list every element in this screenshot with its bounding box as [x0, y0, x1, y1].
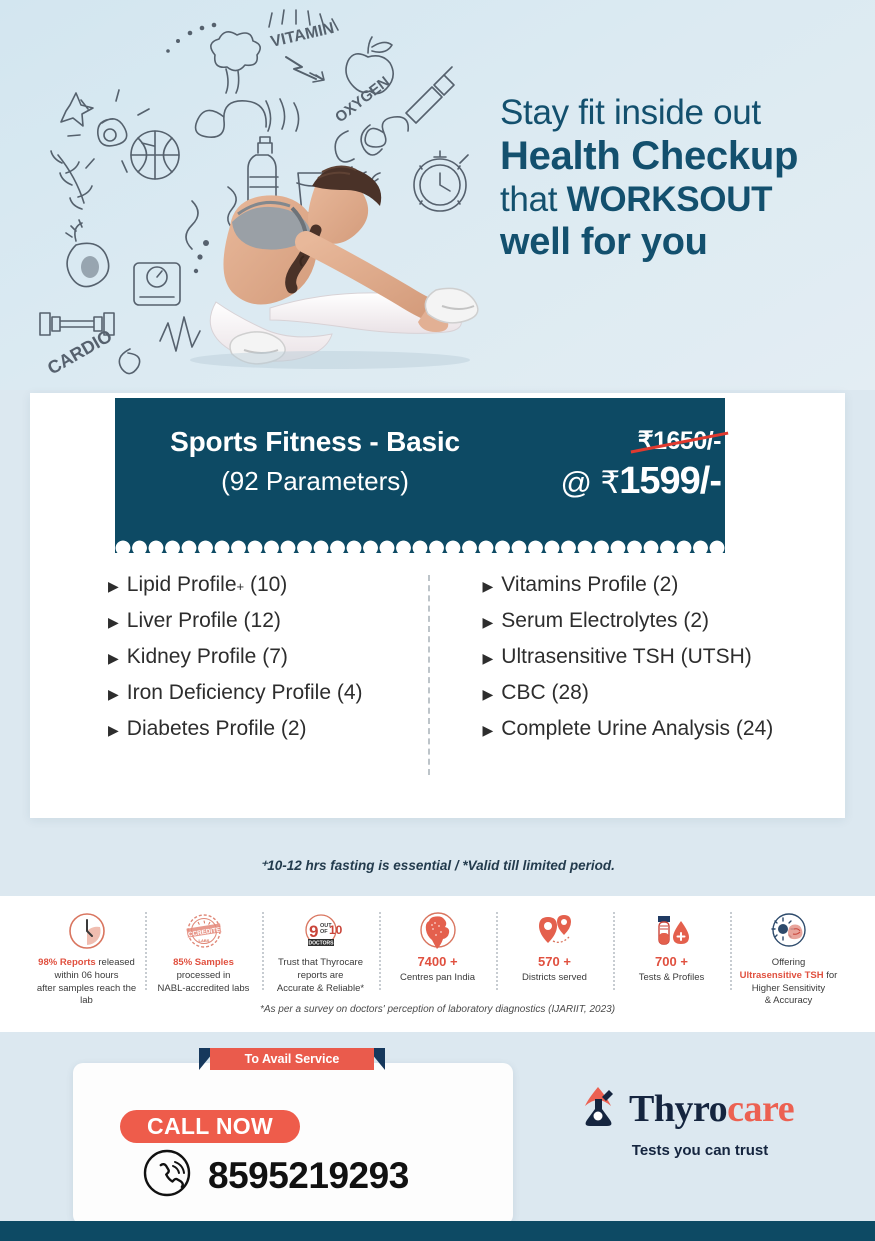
list-item: ▶ Vitamins Profile (2): [483, 573, 846, 597]
headline-line-3: that WORKSOUT: [500, 182, 860, 217]
column-divider: [428, 575, 430, 775]
test-count: (24): [736, 717, 773, 741]
hero-section: VITAMIN OXYGEN: [0, 0, 875, 390]
trust-badge-text: Districts served: [501, 972, 608, 985]
trust-badge-text: Centres pan India: [384, 972, 491, 985]
trust-badge: ACCREDITED LABS 85% Samples processed in…: [145, 908, 262, 995]
trust-badge-line2: Higher Sensitivity: [752, 983, 825, 994]
bullet-arrow-icon: ▶: [108, 579, 119, 593]
test-superscript: +: [237, 579, 245, 594]
trust-badge-text: 98% Reports released within 06 hours aft…: [33, 957, 140, 1008]
survey-note: *As per a survey on doctors' perception …: [0, 1004, 875, 1015]
test-name: Liver Profile: [127, 609, 238, 633]
tsh-molecule-icon: [735, 908, 842, 954]
test-name: CBC: [501, 681, 545, 705]
nine-out-of-ten-doctors-icon: 9 OUT OF 10 DOCTORS: [267, 908, 374, 954]
svg-text:CARDIO: CARDIO: [44, 326, 115, 375]
bullet-arrow-icon: ▶: [108, 651, 119, 665]
test-count: (4): [337, 681, 363, 705]
ribbon-label: To Avail Service: [210, 1048, 374, 1070]
trust-badge-line2: within 06 hours: [55, 970, 119, 981]
india-map-icon: [384, 908, 491, 954]
test-list: ▶ Lipid Profile+ (10) ▶ Liver Profile (1…: [30, 573, 845, 753]
trust-badge-highlight: 85% Samples: [173, 957, 234, 968]
avail-service-ribbon: To Avail Service: [199, 1048, 385, 1070]
bullet-arrow-icon: ▶: [108, 687, 119, 701]
trust-badge-text: 85% Samples processed in NABL-accredited…: [150, 957, 257, 995]
rupee-symbol: ₹: [601, 465, 620, 500]
list-item: ▶ Liver Profile (12): [108, 609, 438, 633]
offer-price: @ ₹1599/-: [481, 460, 721, 503]
headline-line-3-bold: WORKSOUT: [567, 180, 773, 219]
trust-badge-highlight: Ultrasensitive TSH: [740, 970, 824, 981]
trust-badge-line2: reports are: [298, 970, 344, 981]
trust-badge: 98% Reports released within 06 hours aft…: [28, 908, 145, 1008]
trust-badge-text: Trust that Thyrocare reports are Accurat…: [267, 957, 374, 995]
test-name: Ultrasensitive TSH: [501, 645, 675, 669]
headline-line-3-normal: that: [500, 180, 567, 219]
trust-badge-number: 7400 +: [384, 954, 491, 969]
test-name: Complete Urine Analysis: [501, 717, 730, 741]
trust-badge: 9 OUT OF 10 DOCTORS Trust that Thyrocare…: [262, 908, 379, 995]
list-item: ▶ Lipid Profile+ (10): [108, 573, 438, 597]
trust-badge-text: Tests & Profiles: [618, 972, 725, 985]
trust-badge: Offering Ultrasensitive TSH for Higher S…: [730, 908, 847, 1008]
fasting-note: ⁺10-12 hrs fasting is essential / *Valid…: [0, 858, 875, 874]
clock-icon: [33, 908, 140, 954]
pricing-info: ₹1650/- @ ₹1599/-: [481, 426, 721, 503]
test-column-right: ▶ Vitamins Profile (2) ▶ Serum Electroly…: [438, 573, 846, 753]
test-count: (7): [262, 645, 288, 669]
trust-badge-rest: released: [96, 957, 135, 968]
trust-badge-rest: Trust that Thyrocare: [278, 957, 363, 968]
test-count: (12): [244, 609, 281, 633]
brand-tagline: Tests you can trust: [575, 1142, 825, 1159]
scalloped-edge: [115, 536, 725, 554]
svg-text:OF: OF: [320, 929, 328, 935]
bullet-arrow-icon: ▶: [483, 687, 494, 701]
list-item: ▶ Iron Deficiency Profile (4): [108, 681, 438, 705]
bullet-arrow-icon: ▶: [483, 723, 494, 737]
trust-badge-highlight: 98% Reports: [38, 957, 96, 968]
brand-logo: Thyrocare Tests you can trust: [575, 1083, 825, 1159]
bullet-arrow-icon: ▶: [483, 615, 494, 629]
trust-badge-line2: processed in: [177, 970, 231, 981]
bullet-arrow-icon: ▶: [483, 579, 494, 593]
phone-call-icon: [142, 1148, 192, 1203]
package-parameters: (92 Parameters): [135, 466, 495, 497]
original-price: ₹1650/-: [638, 426, 721, 456]
package-info: Sports Fitness - Basic (92 Parameters): [135, 426, 495, 497]
trust-badge-number: 570 +: [501, 954, 608, 969]
bullet-arrow-icon: ▶: [108, 723, 119, 737]
package-title: Sports Fitness - Basic: [135, 426, 495, 458]
accredited-stamp-icon: ACCREDITED LABS: [150, 908, 257, 954]
trust-badge: 570 + Districts served: [496, 908, 613, 985]
price-banner: Sports Fitness - Basic (92 Parameters) ₹…: [115, 398, 725, 553]
at-symbol: @: [560, 465, 590, 500]
test-tube-blood-drop-icon: [618, 908, 725, 954]
svg-text:9: 9: [309, 922, 318, 941]
trust-badge-rest: for: [824, 970, 838, 981]
offer-price-value: 1599/-: [619, 460, 721, 502]
list-item: ▶ Complete Urine Analysis (24): [483, 717, 846, 741]
trust-badge-line3: Accurate & Reliable*: [277, 983, 364, 994]
trust-badge-line3: NABL-accredited labs: [158, 983, 250, 994]
list-item: ▶ CBC (28): [483, 681, 846, 705]
headline-line-4: well for you: [500, 223, 860, 261]
test-count: (2): [683, 609, 709, 633]
svg-text:VITAMIN: VITAMIN: [269, 20, 336, 51]
test-name: Serum Electrolytes: [501, 609, 677, 633]
logo-row: Thyrocare: [575, 1083, 825, 1134]
footer-bar: [0, 1221, 875, 1241]
svg-text:LABS: LABS: [198, 938, 209, 943]
trust-badge-text: Offering Ultrasensitive TSH for Higher S…: [735, 957, 842, 1008]
test-name: Diabetes Profile: [127, 717, 275, 741]
test-name: Lipid Profile: [127, 573, 237, 597]
logo-part-2: care: [727, 1088, 794, 1130]
svg-text:DOCTORS: DOCTORS: [308, 941, 334, 947]
bullet-arrow-icon: ▶: [483, 651, 494, 665]
logo-wordmark: Thyrocare: [629, 1087, 794, 1131]
svg-text:OXYGEN: OXYGEN: [332, 73, 393, 126]
thyrocare-flask-icon: [575, 1083, 621, 1134]
list-item: ▶ Ultrasensitive TSH (UTSH): [483, 645, 846, 669]
trust-badge: 700 + Tests & Profiles: [613, 908, 730, 985]
test-count: (UTSH): [681, 645, 752, 669]
test-count: (2): [653, 573, 679, 597]
bullet-arrow-icon: ▶: [108, 615, 119, 629]
test-column-left: ▶ Lipid Profile+ (10) ▶ Liver Profile (1…: [30, 573, 438, 753]
list-item: ▶ Serum Electrolytes (2): [483, 609, 846, 633]
test-count: (28): [551, 681, 588, 705]
trust-badge-line3: after samples reach the lab: [37, 983, 136, 1007]
logo-part-1: Thyro: [629, 1088, 727, 1130]
hero-headline: Stay fit inside out Health Checkup that …: [500, 95, 860, 261]
svg-text:10: 10: [329, 923, 343, 937]
trust-badge-line2: Tests & Profiles: [639, 972, 704, 983]
test-count: (10): [250, 573, 287, 597]
trust-badge-number: 700 +: [618, 954, 725, 969]
test-name: Kidney Profile: [127, 645, 257, 669]
test-count: (2): [281, 717, 307, 741]
test-name: Iron Deficiency Profile: [127, 681, 331, 705]
list-item: ▶ Diabetes Profile (2): [108, 717, 438, 741]
phone-row[interactable]: 8595219293: [142, 1148, 409, 1203]
trust-badge-line2: Districts served: [522, 972, 587, 983]
location-pin-icon: [501, 908, 608, 954]
trust-badge-line1: Offering: [772, 957, 806, 968]
list-item: ▶ Kidney Profile (7): [108, 645, 438, 669]
headline-line-2: Health Checkup: [500, 136, 860, 176]
trust-badge-line2: Centres pan India: [400, 972, 475, 983]
headline-line-1: Stay fit inside out: [500, 95, 860, 130]
fitness-woman-photo: [120, 120, 520, 370]
phone-number[interactable]: 8595219293: [208, 1155, 409, 1197]
package-card: Sports Fitness - Basic (92 Parameters) ₹…: [30, 393, 845, 818]
test-name: Vitamins Profile: [501, 573, 647, 597]
call-now-button[interactable]: CALL NOW: [120, 1110, 300, 1143]
trust-badge: 7400 + Centres pan India: [379, 908, 496, 985]
